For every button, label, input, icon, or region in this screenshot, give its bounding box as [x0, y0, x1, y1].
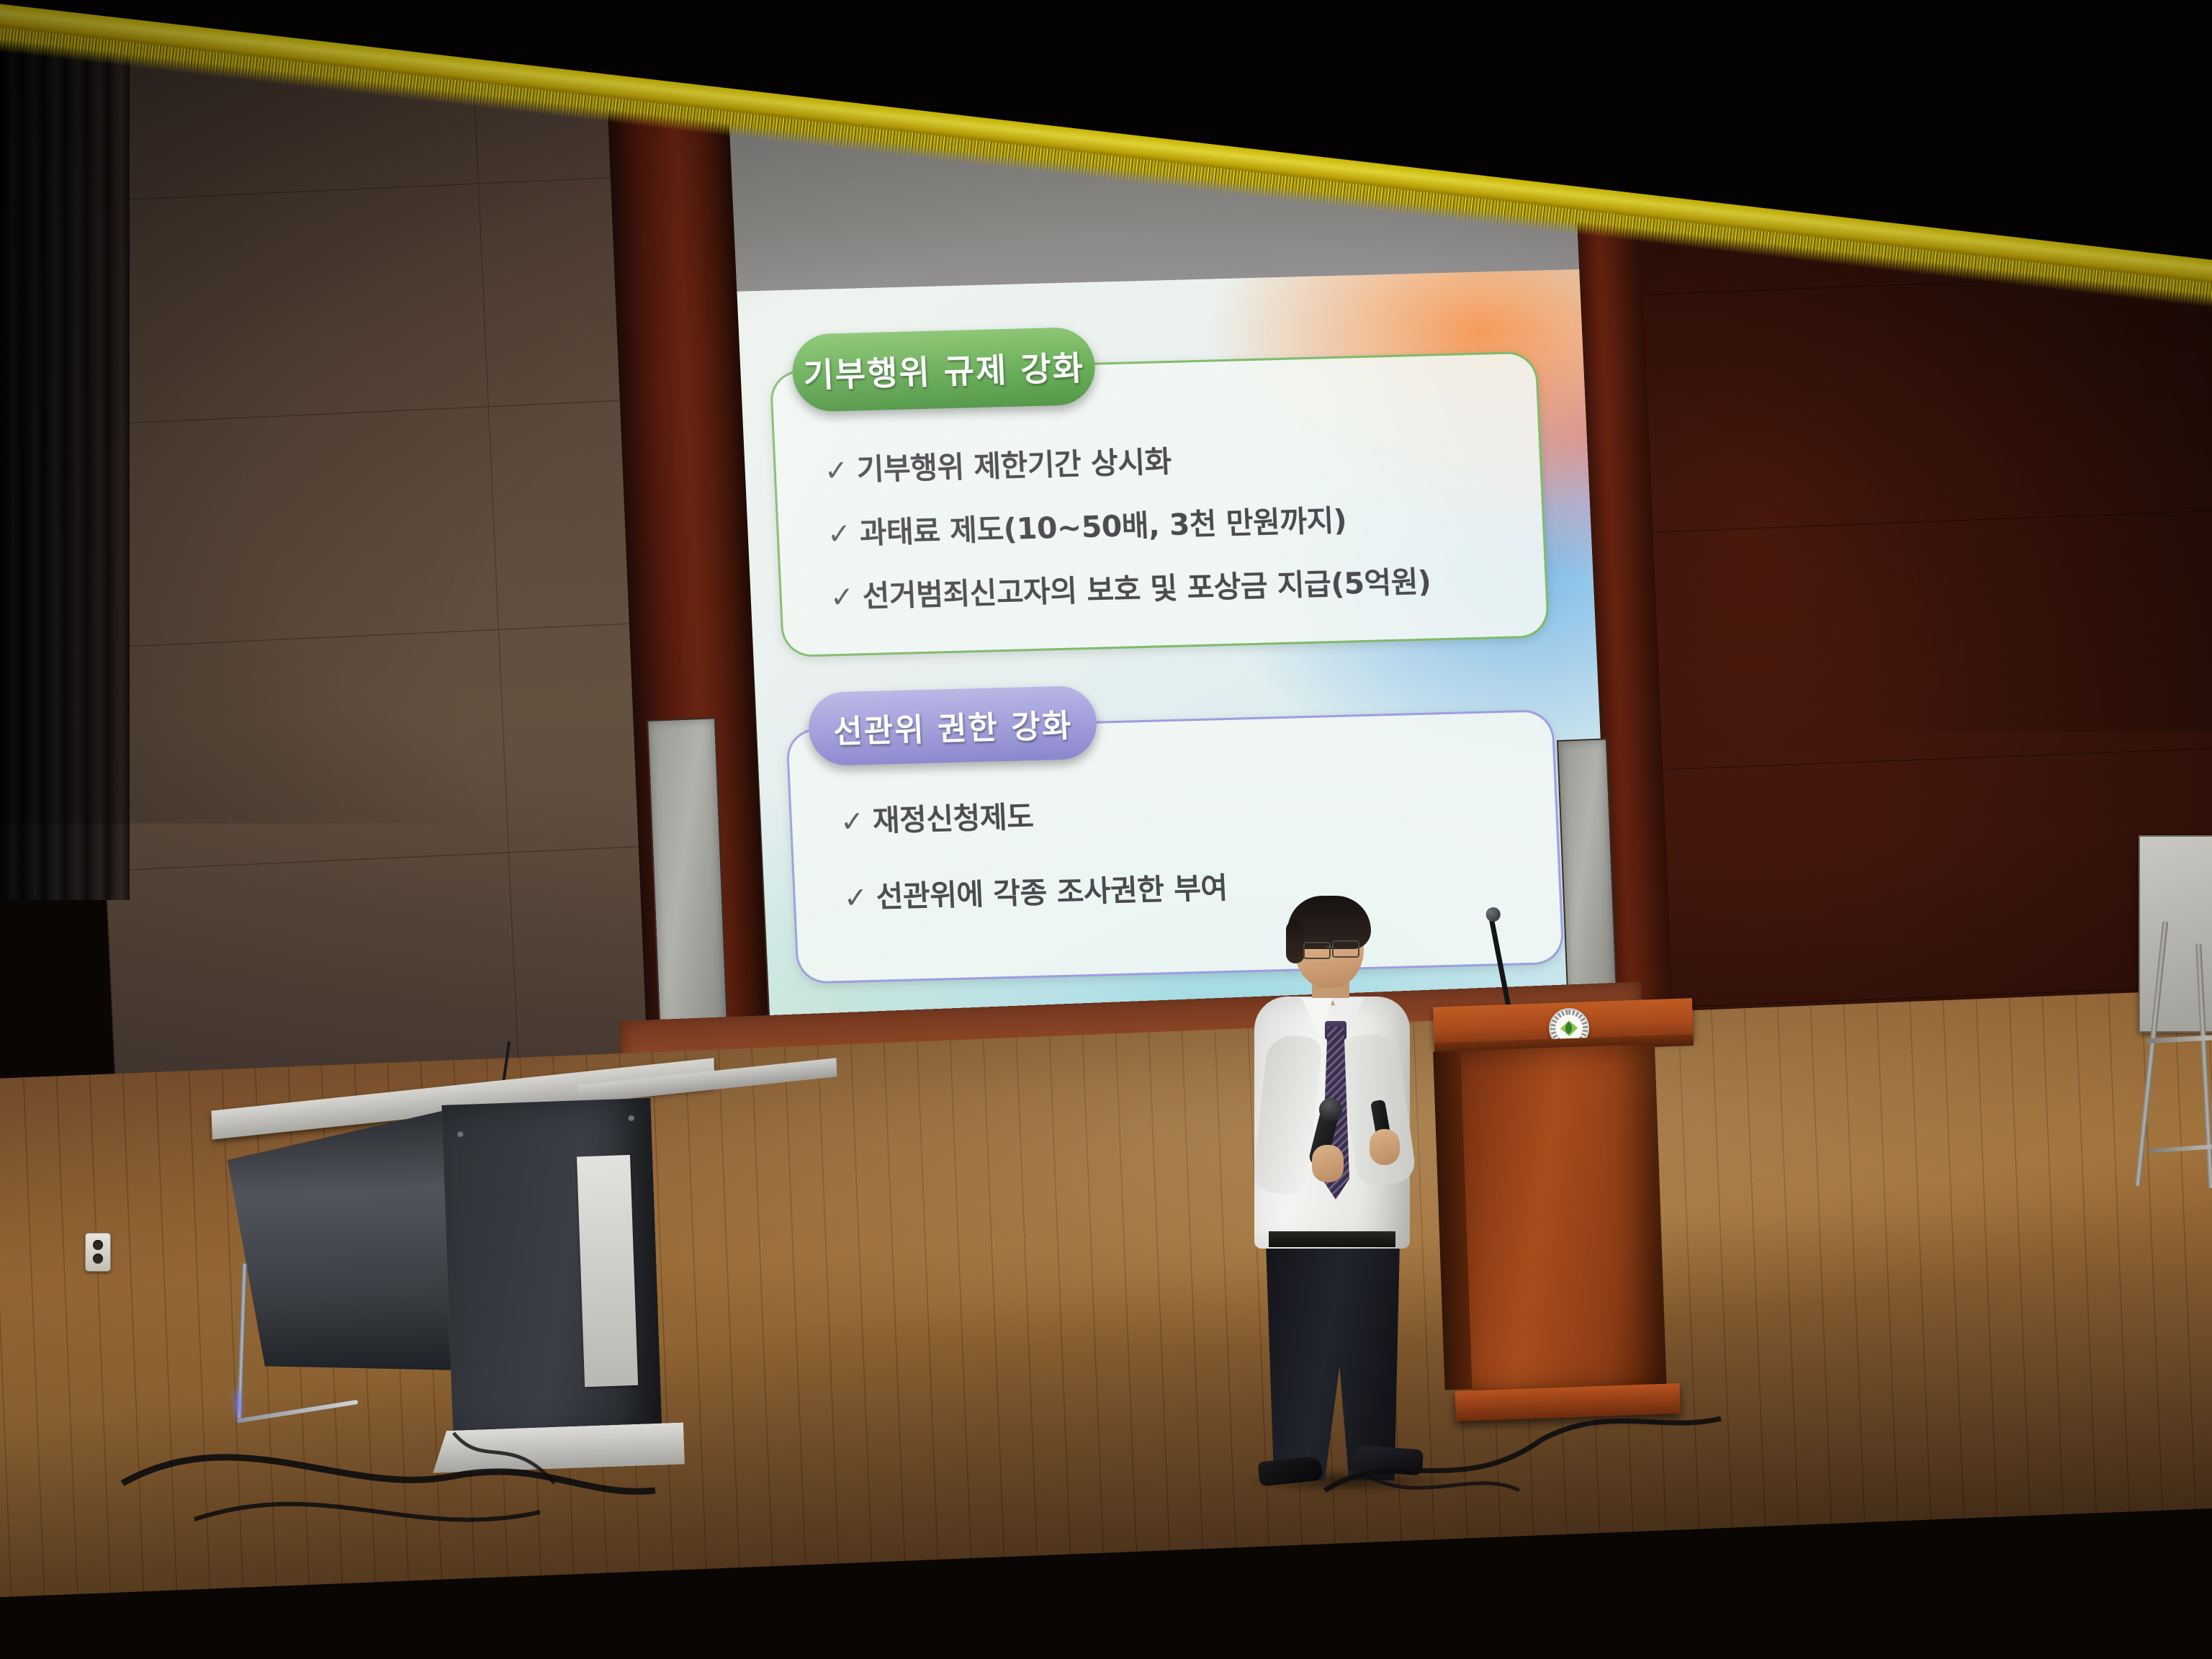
check-icon: ✓: [840, 805, 865, 839]
glasses-bridge: [1326, 946, 1334, 948]
slide-bullet-5-text: 선관위에 각종 조사권한 부여: [875, 863, 1228, 916]
presenter-sideburn: [1286, 920, 1305, 963]
apron-outlet-4: [1697, 1437, 1726, 1480]
slide-bullet-4: ✓ 재정신청제도: [839, 792, 1034, 840]
flip-chart-easel: [2117, 828, 2212, 1260]
slide-bullet-1: ✓ 기부행위 제한기간 상시화: [823, 437, 1172, 490]
projected-slide: 기부행위 규제 강화 ✓ 기부행위 제한기간 상시화 ✓ 과태료 제도(10~5…: [737, 269, 1613, 1036]
wall-speaker-right: [1557, 738, 1618, 1002]
slide-heading-green: 기부행위 규제 강화: [791, 327, 1097, 413]
wooden-podium: [1447, 999, 1693, 1439]
wall-outlet-left: [85, 1233, 111, 1272]
lectern-screw-right: [628, 1115, 634, 1121]
check-icon: ✓: [827, 518, 852, 552]
slide-bullet-4-text: 재정신청제도: [871, 792, 1034, 840]
glasses-icon: [1303, 942, 1331, 959]
wall-speaker-left: [647, 717, 728, 1029]
auditorium-seat: [1355, 1577, 1576, 1659]
check-icon: ✓: [843, 881, 868, 915]
presenter-hand-right: [1370, 1129, 1400, 1165]
auditorium-seat: [1629, 1554, 1853, 1659]
check-icon: ✓: [829, 581, 855, 615]
slide-bullet-1-text: 기부행위 제한기간 상시화: [855, 437, 1172, 488]
presenter-belt: [1269, 1231, 1395, 1247]
lectern-accent-strip: [577, 1155, 638, 1387]
presenter-hand-left: [1312, 1145, 1344, 1182]
auditorium-seat: [822, 1627, 1035, 1659]
check-icon: ✓: [824, 454, 849, 488]
emblem-leaf-icon: [1558, 1017, 1581, 1040]
auditorium-photo: 기부행위 규제 강화 ✓ 기부행위 제한기간 상시화 ✓ 과태료 제도(10~5…: [0, 0, 2212, 1659]
podium-body: [1460, 1044, 1667, 1396]
slide-heading-purple: 선관위 권한 강화: [807, 685, 1099, 766]
apron-outlet-3: [1655, 1439, 1687, 1485]
easel-crossbar: [2149, 1141, 2212, 1153]
glasses-lens-right: [1332, 940, 1359, 958]
presenter: [1217, 891, 1447, 1467]
lectern-screw-left: [457, 1130, 464, 1137]
